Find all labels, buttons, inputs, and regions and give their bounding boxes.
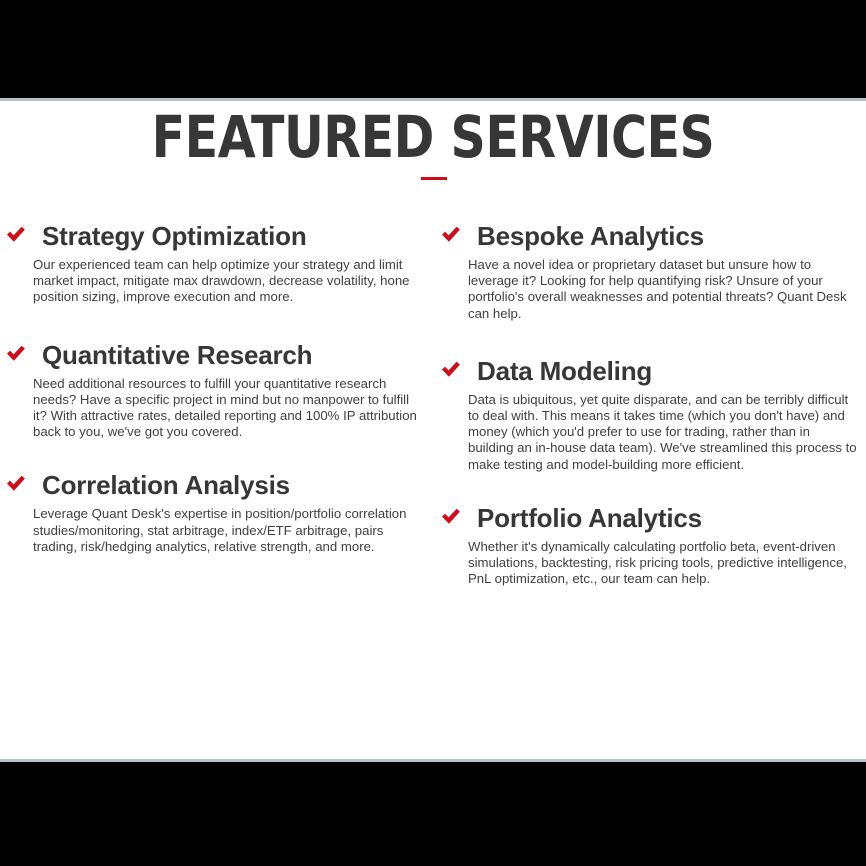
slide-canvas: FEATURED SERVICES Strategy Optimization … — [0, 101, 866, 759]
check-mark-icon — [5, 473, 27, 495]
service-item: Data Modeling Data is ubiquitous, yet qu… — [440, 354, 840, 473]
check-mark-icon — [440, 224, 462, 246]
service-header: Bespoke Analytics — [440, 219, 840, 255]
service-item: Bespoke Analytics Have a novel idea or p… — [440, 219, 840, 322]
top-letterbox-bar — [0, 0, 866, 98]
slide: FEATURED SERVICES Strategy Optimization … — [0, 0, 866, 866]
service-item: Portfolio Analytics Whether it's dynamic… — [440, 501, 840, 588]
service-header: Correlation Analysis — [5, 468, 405, 504]
service-description: Leverage Quant Desk's expertise in posit… — [33, 506, 423, 555]
spacer — [5, 450, 405, 468]
service-item: Correlation Analysis Leverage Quant Desk… — [5, 468, 405, 555]
service-title: Quantitative Research — [42, 338, 312, 372]
service-title: Bespoke Analytics — [477, 219, 704, 253]
spacer — [440, 483, 840, 501]
page-title: FEATURED SERVICES — [26, 105, 840, 169]
bottom-letterbox-bar — [0, 762, 866, 866]
service-header: Quantitative Research — [5, 338, 405, 374]
service-description: Our experienced team can help optimize y… — [33, 257, 423, 306]
service-description: Data is ubiquitous, yet quite disparate,… — [468, 392, 858, 473]
check-mark-icon — [440, 506, 462, 528]
spacer — [440, 332, 840, 354]
service-description: Have a novel idea or proprietary dataset… — [468, 257, 858, 322]
service-title: Portfolio Analytics — [477, 501, 702, 535]
service-item: Quantitative Research Need additional re… — [5, 338, 405, 441]
spacer — [5, 316, 405, 338]
service-description: Need additional resources to fulfill you… — [33, 376, 423, 441]
check-mark-icon — [5, 343, 27, 365]
service-header: Portfolio Analytics — [440, 501, 840, 537]
service-title: Correlation Analysis — [42, 468, 290, 502]
right-column: Bespoke Analytics Have a novel idea or p… — [440, 219, 840, 597]
service-title: Strategy Optimization — [42, 219, 307, 253]
service-header: Data Modeling — [440, 354, 840, 390]
check-mark-icon — [5, 224, 27, 246]
check-mark-icon — [440, 359, 462, 381]
service-header: Strategy Optimization — [5, 219, 405, 255]
service-title: Data Modeling — [477, 354, 652, 388]
title-accent-divider — [421, 177, 447, 180]
service-description: Whether it's dynamically calculating por… — [468, 539, 858, 588]
left-column: Strategy Optimization Our experienced te… — [5, 219, 405, 565]
service-item: Strategy Optimization Our experienced te… — [5, 219, 405, 306]
